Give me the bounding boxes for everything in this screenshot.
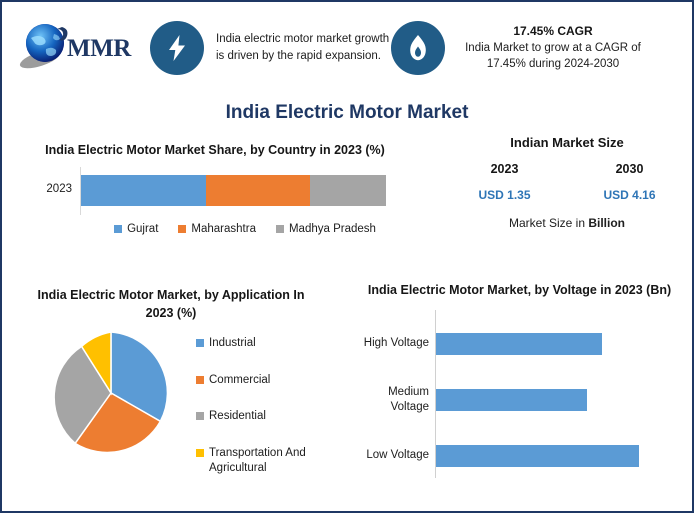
bar-segment-madhya-pradesh <box>310 175 386 206</box>
header-bar: MMR India electric motor market growth i… <box>2 2 692 94</box>
market-size-column-2030: 2030 USD 4.16 <box>575 162 685 202</box>
header-statement-text: India electric motor market growth is dr… <box>204 31 391 64</box>
category-label-2023: 2023 <box>26 183 72 195</box>
chart-title: India Electric Motor Market, by Voltage … <box>347 282 692 300</box>
market-size-unit-prefix: Market Size in <box>509 216 588 230</box>
legend-label: Maharashtra <box>191 223 256 235</box>
cagr-callout: 17.45% CAGR India Market to grow at a CA… <box>445 24 653 73</box>
legend-item-gujrat: Gujrat <box>114 223 158 235</box>
page-title: India Electric Motor Market <box>2 102 692 124</box>
bar-row-low-voltage: Low Voltage <box>347 434 692 478</box>
bar-category-label: Low Voltage <box>347 448 429 462</box>
chart-market-by-voltage: India Electric Motor Market, by Voltage … <box>347 282 692 507</box>
market-size-panel: Indian Market Size 2023 USD 1.35 2030 US… <box>442 135 692 230</box>
flame-icon <box>391 21 445 75</box>
chart-legend: Gujrat Maharashtra Madhya Pradesh <box>6 223 424 235</box>
market-size-year: 2023 <box>450 162 560 176</box>
market-size-column-2023: 2023 USD 1.35 <box>450 162 560 202</box>
bar-segment-maharashtra <box>206 175 310 206</box>
legend-label: Commercial <box>209 373 270 389</box>
lightning-bolt-icon <box>150 21 204 75</box>
chart-title: India Electric Motor Market, by Applicat… <box>6 287 336 322</box>
legend-swatch-icon <box>196 449 204 457</box>
legend-item-maharashtra: Maharashtra <box>178 223 256 235</box>
legend-item-industrial: Industrial <box>196 336 336 352</box>
logo-wordmark: MMR <box>67 35 131 63</box>
legend-swatch-icon <box>276 225 284 233</box>
chart-legend: Industrial Commercial Residential Transp… <box>196 336 336 498</box>
legend-swatch-icon <box>178 225 186 233</box>
legend-item-transportation-and-agricultural: Transportation And Agricultural <box>196 446 336 477</box>
stacked-bar <box>81 175 386 206</box>
bar-row-medium-voltage: Medium Voltage <box>347 378 692 422</box>
legend-label: Madhya Pradesh <box>289 223 376 235</box>
stacked-bar-chart-area: 2023 <box>6 167 424 215</box>
legend-label: Gujrat <box>127 223 158 235</box>
market-size-title: Indian Market Size <box>442 135 692 150</box>
legend-swatch-icon <box>196 339 204 347</box>
chart-title: India Electric Motor Market Share, by Co… <box>6 142 424 159</box>
bar-category-label: High Voltage <box>347 336 429 350</box>
company-logo: MMR <box>10 13 150 83</box>
chart-share-by-country: India Electric Motor Market Share, by Co… <box>6 142 424 257</box>
market-size-unit: Billion <box>588 216 625 230</box>
pie-chart-area: Industrial Commercial Residential Transp… <box>6 328 336 488</box>
bar-high-voltage <box>436 333 602 355</box>
market-size-value: USD 4.16 <box>575 188 685 202</box>
legend-item-madhya-pradesh: Madhya Pradesh <box>276 223 376 235</box>
cagr-description: India Market to grow at a CAGR of 17.45%… <box>453 40 653 73</box>
legend-swatch-icon <box>114 225 122 233</box>
bar-row-high-voltage: High Voltage <box>347 322 692 366</box>
market-size-unit-note: Market Size in Billion <box>442 216 692 230</box>
pie-chart <box>46 328 176 458</box>
legend-swatch-icon <box>196 412 204 420</box>
market-size-year: 2030 <box>575 162 685 176</box>
bar-medium-voltage <box>436 389 587 411</box>
legend-label: Residential <box>209 409 266 425</box>
legend-label: Transportation And Agricultural <box>209 446 336 477</box>
market-size-columns: 2023 USD 1.35 2030 USD 4.16 <box>442 162 692 202</box>
legend-item-commercial: Commercial <box>196 373 336 389</box>
bar-category-label: Medium Voltage <box>347 385 429 414</box>
bar-low-voltage <box>436 445 639 467</box>
legend-label: Industrial <box>209 336 256 352</box>
market-size-value: USD 1.35 <box>450 188 560 202</box>
legend-swatch-icon <box>196 376 204 384</box>
chart-share-by-application: India Electric Motor Market, by Applicat… <box>6 287 336 507</box>
bar-segment-gujrat <box>81 175 206 206</box>
infographic-canvas: MMR India electric motor market growth i… <box>0 0 694 513</box>
legend-item-residential: Residential <box>196 409 336 425</box>
bar-chart-area: High Voltage Medium Voltage Low Voltage <box>347 310 692 478</box>
cagr-value: 17.45% CAGR <box>453 24 653 38</box>
